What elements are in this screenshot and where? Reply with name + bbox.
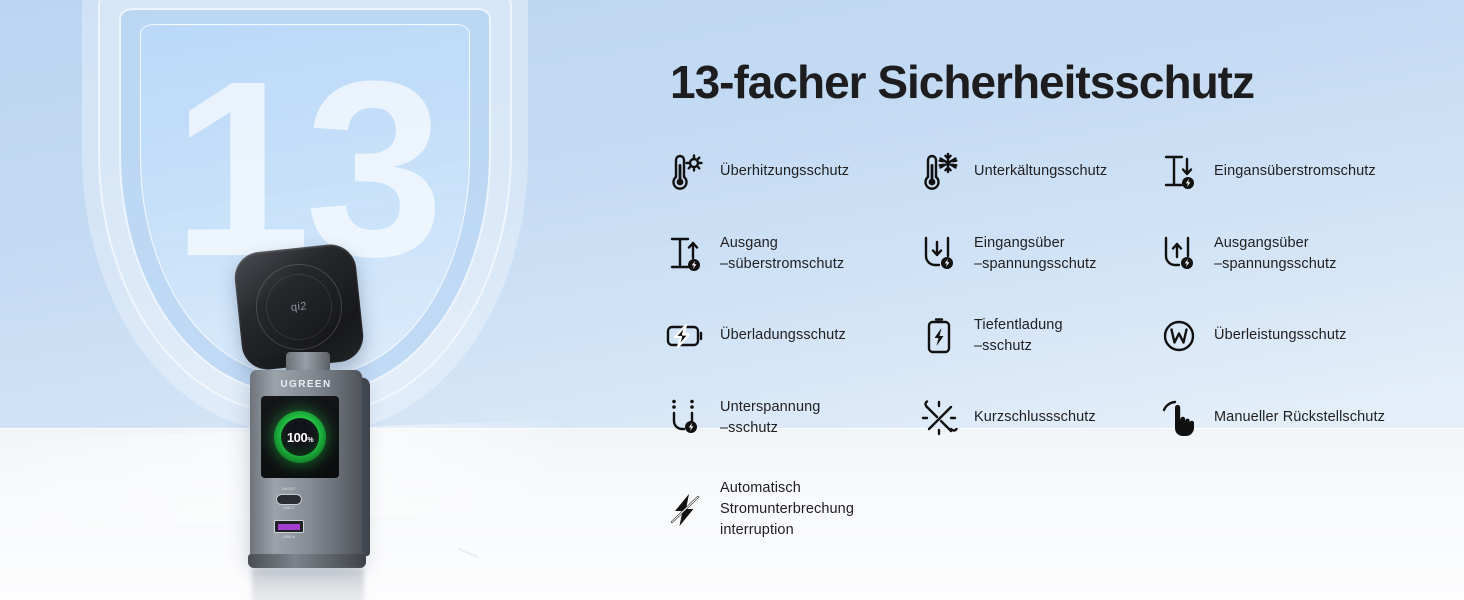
feature-row: Ausgang–süberstromschutzEingangsüber–spa… [660,232,1464,314]
feature-label: AutomatischStromunterbrechunginterruptio… [720,478,854,541]
feature-label: Überladungsschutz [720,325,846,346]
feature-label: Eingangsüber–spannungsschutz [974,233,1097,275]
feature-label: Überhitzungsschutz [720,161,849,182]
output-overvoltage-icon [1158,232,1200,276]
product-base [248,554,366,568]
feature-label-line: Unterkältungsschutz [974,161,1107,182]
feature-item: Unterkältungsschutz [918,150,1158,194]
input-overcurrent-icon [1158,150,1200,194]
undervoltage-icon [664,396,706,440]
feature-item: Überladungsschutz [664,314,920,358]
feature-label-line: Ausgang [720,233,844,254]
feature-label: Überleistungsschutz [1214,325,1346,346]
power-cut-icon [664,488,706,532]
feature-label-line: Überhitzungsschutz [720,161,849,182]
feature-row: AutomatischStromunterbrechunginterruptio… [660,478,1464,560]
port-label-inout: IN/OUT [259,487,319,491]
feature-label: Eingansüberstromschutz [1214,161,1376,182]
feature-label-line: –sschutz [974,336,1063,357]
feature-label-line: Tiefentladung [974,315,1063,336]
qi2-logo: qi2 [290,300,307,314]
battery-display: 100% [261,396,339,478]
thermometer-cold-icon [918,150,960,194]
input-overvoltage-icon [918,232,960,276]
feature-label-line: Überleistungsschutz [1214,325,1346,346]
hand-tap-icon [1158,396,1200,440]
feature-label-line: Eingansüberstromschutz [1214,161,1376,182]
feature-item: Eingangsüber–spannungsschutz [918,232,1158,276]
feature-item: Ausgang–süberstromschutz [664,232,920,276]
feature-label: Tiefentladung–sschutz [974,315,1063,357]
feature-row: ÜberhitzungsschutzUnterkältungsschutzEin… [660,150,1464,232]
promo-banner: 13 qi2 10.000mAh UGREEN 100% IN/OUT USB-… [0,0,1464,600]
feature-label-line: Überladungsschutz [720,325,846,346]
feature-label-line: –sschutz [720,418,820,439]
feature-label-line: Eingangsüber [974,233,1097,254]
feature-label-line: Ausgangsüber [1214,233,1337,254]
feature-label-line: Manueller Rückstellschutz [1214,407,1385,428]
feature-row: ÜberladungsschutzTiefentladung–sschutzÜb… [660,314,1464,396]
port-label-usba: USB-A [259,535,319,539]
battery-gauge-inner: 100% [281,418,319,456]
battery-charge-icon [664,314,706,358]
brand-logo: UGREEN [250,379,362,390]
content-panel: 13-facher Sicherheitsschutz Überhitzungs… [660,0,1464,600]
feature-item: Kurzschlussschutz [918,396,1158,440]
feature-item: Überhitzungsschutz [664,150,920,194]
feature-label-line: –spannungsschutz [974,254,1097,275]
product-image: qi2 10.000mAh UGREEN 100% IN/OUT USB-C U… [228,248,418,578]
feature-label-line: interruption [720,520,854,541]
usb-a-port [274,520,304,533]
feature-label-line: –süberstromschutz [720,254,844,275]
port-label-usbc: USB-C [259,506,319,510]
feature-label: Ausgang–süberstromschutz [720,233,844,275]
usb-c-port [276,494,302,505]
feature-row: Unterspannung–sschutzKurzschlussschutzMa… [660,396,1464,478]
page-title: 13-facher Sicherheitsschutz [670,55,1254,109]
feature-item: Unterspannung–sschutz [664,396,920,440]
thermometer-hot-icon [664,150,706,194]
battery-low-icon [918,314,960,358]
feature-item: Manueller Rückstellschutz [1158,396,1464,440]
feature-label: Manueller Rückstellschutz [1214,407,1385,428]
feature-item: Ausgangsüber–spannungsschutz [1158,232,1464,276]
feature-item: Tiefentladung–sschutz [918,314,1158,358]
feature-label-line: Unterspannung [720,397,820,418]
watt-circle-icon [1158,314,1200,358]
short-circuit-icon [918,396,960,440]
feature-label: Unterkältungsschutz [974,161,1107,182]
feature-item: AutomatischStromunterbrechunginterruptio… [664,478,920,541]
feature-label-line: Kurzschlussschutz [974,407,1096,428]
feature-label-line: Stromunterbrechung [720,499,854,520]
feature-label-line: Automatisch [720,478,854,499]
battery-percent: 100% [287,430,313,445]
feature-item: Eingansüberstromschutz [1158,150,1464,194]
battery-gauge: 100% [274,411,326,463]
feature-label: Kurzschlussschutz [974,407,1096,428]
feature-grid: ÜberhitzungsschutzUnterkältungsschutzEin… [660,150,1464,560]
feature-label: Unterspannung–sschutz [720,397,820,439]
product-reflection [252,568,364,600]
feature-label-line: –spannungsschutz [1214,254,1337,275]
feature-item: Überleistungsschutz [1158,314,1464,358]
output-overcurrent-icon [664,232,706,276]
feature-label: Ausgangsüber–spannungsschutz [1214,233,1337,275]
product-body: UGREEN 100% IN/OUT USB-C USB-A [250,370,362,560]
